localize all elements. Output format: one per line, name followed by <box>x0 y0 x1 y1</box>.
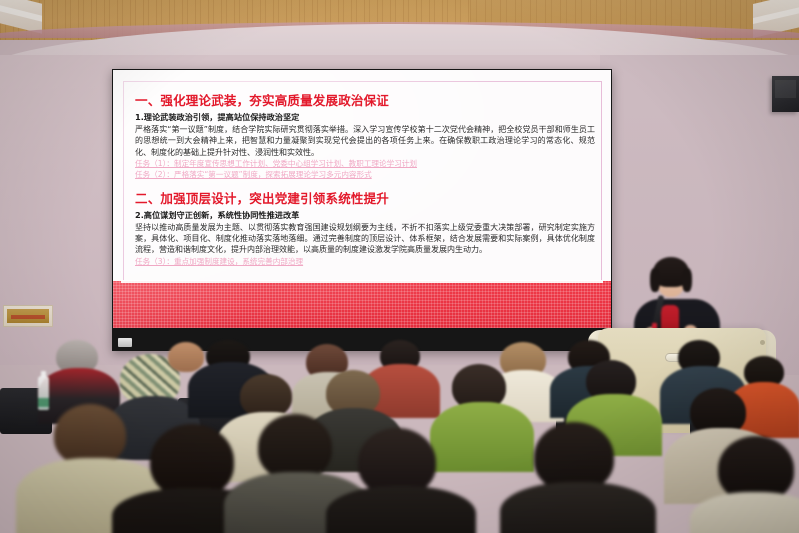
slide-section-2: 二、加强顶层设计，突出党建引领系统性提升 2.高位谋划守正创新，系统性协同性推进… <box>135 188 595 268</box>
conference-photo: 一、强化理论武装，夯实高质量发展政治保证 1.理论武装政治引领，提高站位保持政治… <box>0 0 799 533</box>
audience-head <box>258 414 332 480</box>
section-1-paragraph: 严格落实“第一议题”制度，结合学院实际研究贯彻落实举措。深入学习宣传学校第十二次… <box>135 124 595 158</box>
section-2-subheading: 2.高位谋划守正创新，系统性协同性推进改革 <box>135 209 595 221</box>
presenter-hair <box>653 257 689 287</box>
slide-section-1: 一、强化理论武装，夯实高质量发展政治保证 1.理论武装政治引领，提高站位保持政治… <box>135 90 595 181</box>
audience-head <box>168 342 204 372</box>
audience-shoulders <box>326 486 476 533</box>
presentation-slide: 一、强化理论武装，夯实高质量发展政治保证 1.理论武装政治引领，提高站位保持政治… <box>113 70 611 328</box>
plaque-inner <box>7 309 49 323</box>
section-1-task-1: 任务（1）：制定年度宣传思想工作计划、党委中心组学习计划、教职工理论学习计划 <box>135 159 595 170</box>
audience-head <box>54 404 126 466</box>
water-bottle <box>38 376 49 410</box>
ceiling-speaker-icon <box>772 76 799 112</box>
audience <box>0 340 799 533</box>
section-2-heading: 二、加强顶层设计，突出党建引领系统性提升 <box>135 188 595 207</box>
audience-shoulders <box>430 402 534 472</box>
screen-surface: 一、强化理论武装，夯实高质量发展政治保证 1.理论武装政治引领，提高站位保持政治… <box>113 70 611 328</box>
section-2-task-1: 任务（3）：重点加强制度建设，系统完善内部治理 <box>135 257 595 268</box>
framed-wall-plaque <box>3 305 53 327</box>
slide-body: 一、强化理论武装，夯实高质量发展政治保证 1.理论武装政治引领，提高站位保持政治… <box>113 70 611 281</box>
section-1-subheading: 1.理论武装政治引领，提高站位保持政治坚定 <box>135 111 595 123</box>
section-1-task-2: 任务（2）：严格落实“第一议题”制度，探索拓展理论学习多元内容形式 <box>135 170 595 181</box>
section-1-heading: 一、强化理论武装，夯实高质量发展政治保证 <box>135 90 595 109</box>
audience-head <box>150 424 234 498</box>
slide-red-band <box>113 281 611 328</box>
section-2-paragraph: 坚持以推动高质量发展为主题、以贯彻落实教育强国建设规划纲要为主线，不折不扣落实上… <box>135 222 595 256</box>
projection-screen: 一、强化理论武装，夯实高质量发展政治保证 1.理论武装政治引领，提高站位保持政治… <box>112 69 612 351</box>
audience-shoulders <box>500 482 656 533</box>
